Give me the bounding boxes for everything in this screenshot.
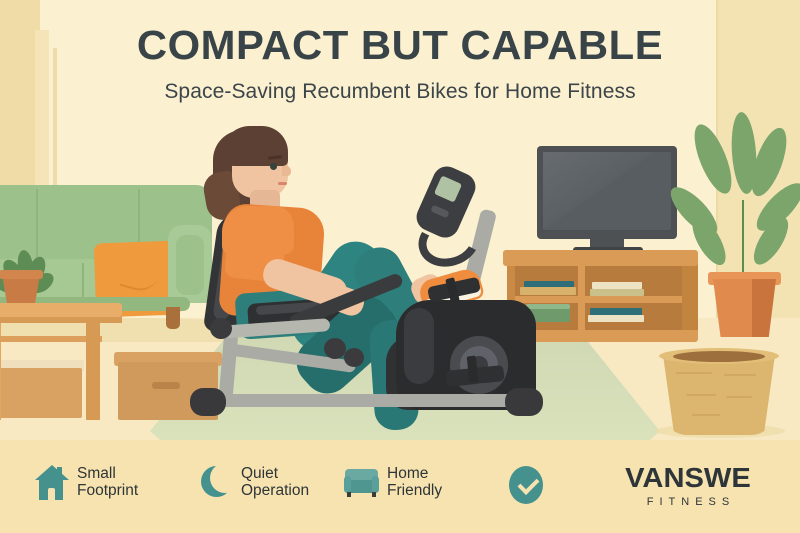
nose [282,166,291,176]
book [590,308,642,315]
tv-stand-divider [578,266,585,330]
book [588,315,644,322]
feature-small-footprint: Small Footprint [34,463,138,501]
tv-screen-glare [543,152,671,230]
page-title: COMPACT BUT CAPABLE [0,22,800,69]
feature-label: Home Friendly [387,465,442,499]
sofa-leg [166,307,180,329]
lips [278,182,287,185]
feature-label: Quiet Operation [241,465,309,499]
page-subtitle: Space-Saving Recumbent Bikes for Home Fi… [0,80,800,104]
bike-base-rail [200,394,530,407]
bike-foot-left [190,388,226,416]
bike-flywheel-highlight [404,308,434,384]
bike-rail-cap-left [210,318,232,339]
plant-stem [742,200,744,282]
storage-box-handle [152,382,180,389]
brand-logo: VANSWE FITNESS [598,462,778,508]
basket-weave [676,372,712,374]
storage-box-under-table [0,368,82,418]
table-leg [86,320,100,420]
basket-interior [673,351,765,362]
hair-top [222,126,288,166]
brand-name: VANSWE [594,462,781,494]
sofa-armrest-inner [176,235,204,295]
basket-weave [686,394,716,396]
sofa-seam [36,189,38,259]
bike-foot-right [505,388,543,416]
poster-canvas: COMPACT BUT CAPABLE Space-Saving Recumbe… [0,0,800,533]
book [526,304,570,309]
moon-icon [198,463,232,501]
basket-weave [726,396,752,398]
feature-label: Small Footprint [77,465,138,499]
basket-body [663,355,775,435]
bike-rail-cap-right-2 [344,348,364,367]
tv-stand-top [503,250,698,266]
plant-pot-rim [0,270,43,279]
table-top [0,303,122,317]
book [590,289,644,296]
brand-tagline: FITNESS [598,496,778,508]
basket-weave [692,414,720,416]
table-leg [0,320,1,420]
book [520,287,576,295]
bike-rail-cap-right [324,338,346,359]
feature-verified [508,466,551,504]
tv-stand-side-panel [682,256,698,338]
sofa-icon [344,463,378,501]
feature-quiet-operation: Quiet Operation [198,463,309,501]
check-circle-icon [508,466,542,504]
tv-stand-shelf [515,296,682,303]
book [592,282,642,289]
house-icon [34,463,68,501]
feature-home-friendly: Home Friendly [344,463,442,501]
eye [270,163,277,170]
basket-weave [724,374,756,376]
